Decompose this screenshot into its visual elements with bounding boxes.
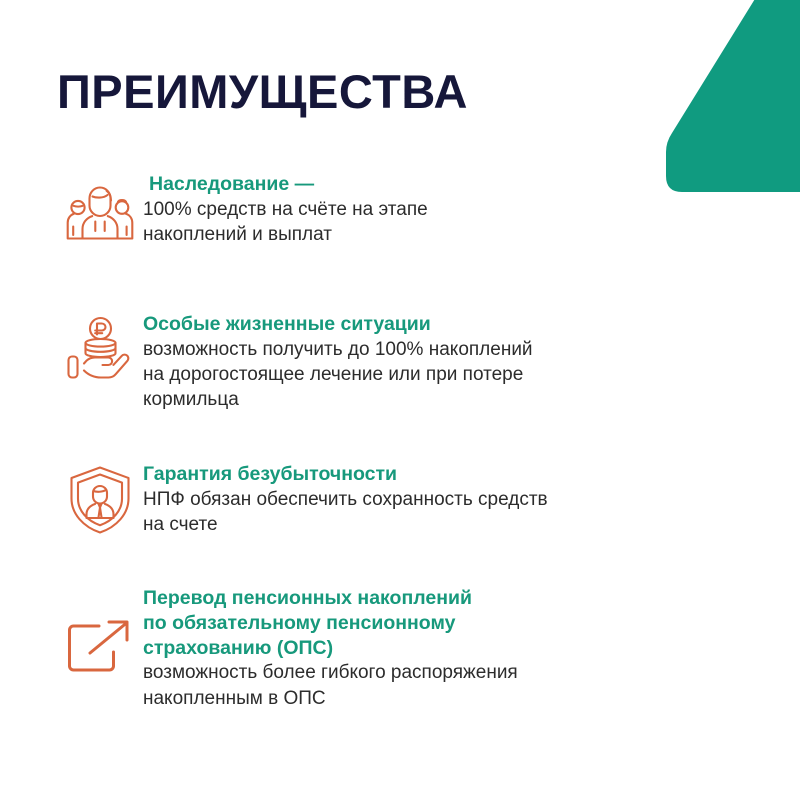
benefit-item-guarantee: Гарантия безубыточности НПФ обязан обесп…	[57, 462, 677, 538]
benefit-heading-guarantee: Гарантия безубыточности	[143, 462, 677, 487]
benefit-item-ops-transfer: Перевод пенсионных накоплений по обязате…	[57, 586, 677, 711]
benefit-item-inheritance: Наследование — 100% средств на счёте на …	[57, 172, 617, 248]
benefit-body-inheritance: 100% средств на счёте на этапе накоплени…	[143, 197, 617, 248]
benefit-text-ops-transfer: Перевод пенсионных накоплений по обязате…	[143, 586, 677, 711]
share-arrow-out-of-box-icon	[57, 586, 143, 678]
benefit-body-ops-transfer: возможность более гибкого распоряжения н…	[143, 660, 677, 711]
benefit-heading-inheritance: Наследование —	[149, 172, 617, 197]
teal-accent-shape	[666, 0, 800, 192]
family-group-icon	[57, 172, 143, 248]
benefit-item-special-situations: Особые жизненные ситуации возможность по…	[57, 312, 677, 413]
shield-person-icon	[57, 462, 143, 538]
page-title: ПРЕИМУЩЕСТВА	[57, 67, 468, 116]
benefit-text-inheritance: Наследование — 100% средств на счёте на …	[143, 172, 617, 247]
benefit-body-special-situations: возможность получить до 100% накоплений …	[143, 337, 677, 413]
benefit-heading-ops-transfer: Перевод пенсионных накоплений по обязате…	[143, 586, 677, 660]
benefit-body-guarantee: НПФ обязан обеспечить сохранность средст…	[143, 487, 677, 538]
benefit-heading-special-situations: Особые жизненные ситуации	[143, 312, 677, 337]
benefit-text-guarantee: Гарантия безубыточности НПФ обязан обесп…	[143, 462, 677, 537]
hand-holding-coins-ruble-icon	[57, 312, 143, 388]
benefit-text-special-situations: Особые жизненные ситуации возможность по…	[143, 312, 677, 413]
